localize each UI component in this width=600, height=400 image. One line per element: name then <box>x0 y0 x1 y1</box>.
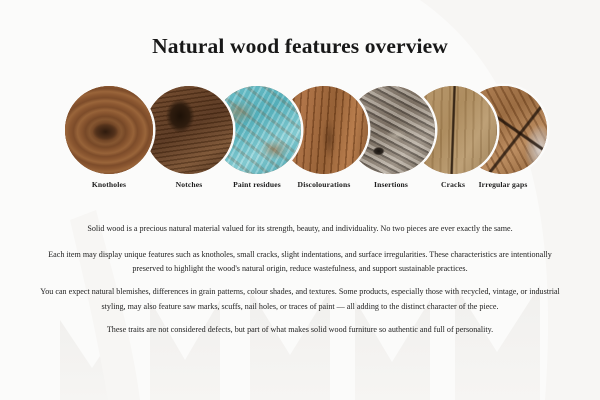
body-paragraph: Each item may display unique features su… <box>40 248 560 277</box>
feature-strip: Knotholes Notches Paint residues Discolo… <box>0 86 600 178</box>
document-page: Natural wood features overview Knotholes… <box>0 0 600 400</box>
feature-label: Notches <box>176 180 203 189</box>
body-paragraph: You can expect natural blemishes, differ… <box>40 285 560 314</box>
wood-notch-photo <box>145 86 233 174</box>
feature-label: Knotholes <box>92 180 126 189</box>
feature-label: Discolourations <box>298 180 351 189</box>
feature-label: Insertions <box>374 180 408 189</box>
feature-label: Paint residues <box>233 180 281 189</box>
wood-knothole-photo <box>65 86 153 174</box>
body-paragraph: These traits are not considered defects,… <box>40 323 560 338</box>
body-copy: Solid wood is a precious natural materia… <box>40 222 560 338</box>
feature-label: Irregular gaps <box>479 180 528 189</box>
feature-label: Cracks <box>441 180 465 189</box>
body-paragraph: Solid wood is a precious natural materia… <box>40 222 560 237</box>
page-title: Natural wood features overview <box>0 34 600 59</box>
feature-item-notches[interactable]: Notches <box>145 86 233 174</box>
feature-item-knotholes[interactable]: Knotholes <box>65 86 153 174</box>
